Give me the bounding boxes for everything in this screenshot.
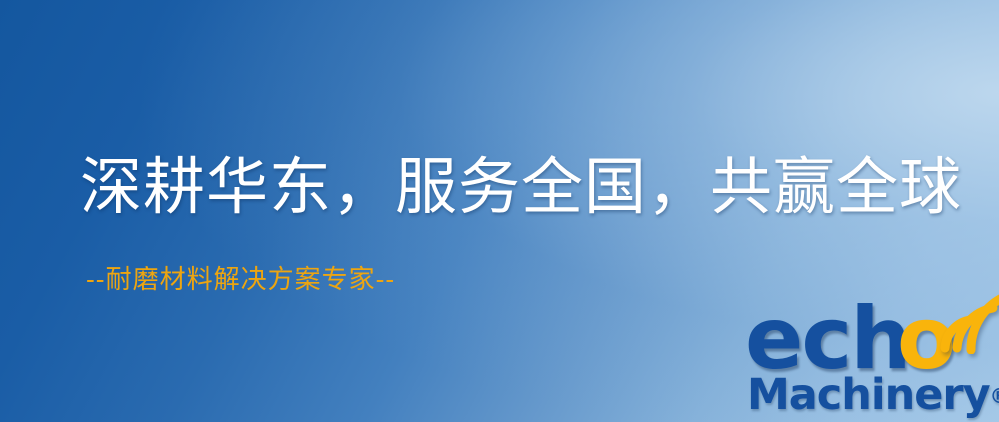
logo-machinery-text: Machinery xyxy=(747,370,990,420)
hero-banner: 深耕华东，服务全国，共赢全球 --耐磨材料解决方案专家-- ech o Mach… xyxy=(0,0,999,422)
signal-arcs-icon xyxy=(931,290,999,354)
page-title: 深耕华东，服务全国，共赢全球 xyxy=(80,150,940,224)
company-logo[interactable]: ech o Machinery® xyxy=(745,296,999,422)
registered-trademark-icon: ® xyxy=(990,384,999,408)
logo-wordmark-secondary: Machinery® xyxy=(747,370,999,421)
page-subtitle: --耐磨材料解决方案专家-- xyxy=(86,264,395,296)
